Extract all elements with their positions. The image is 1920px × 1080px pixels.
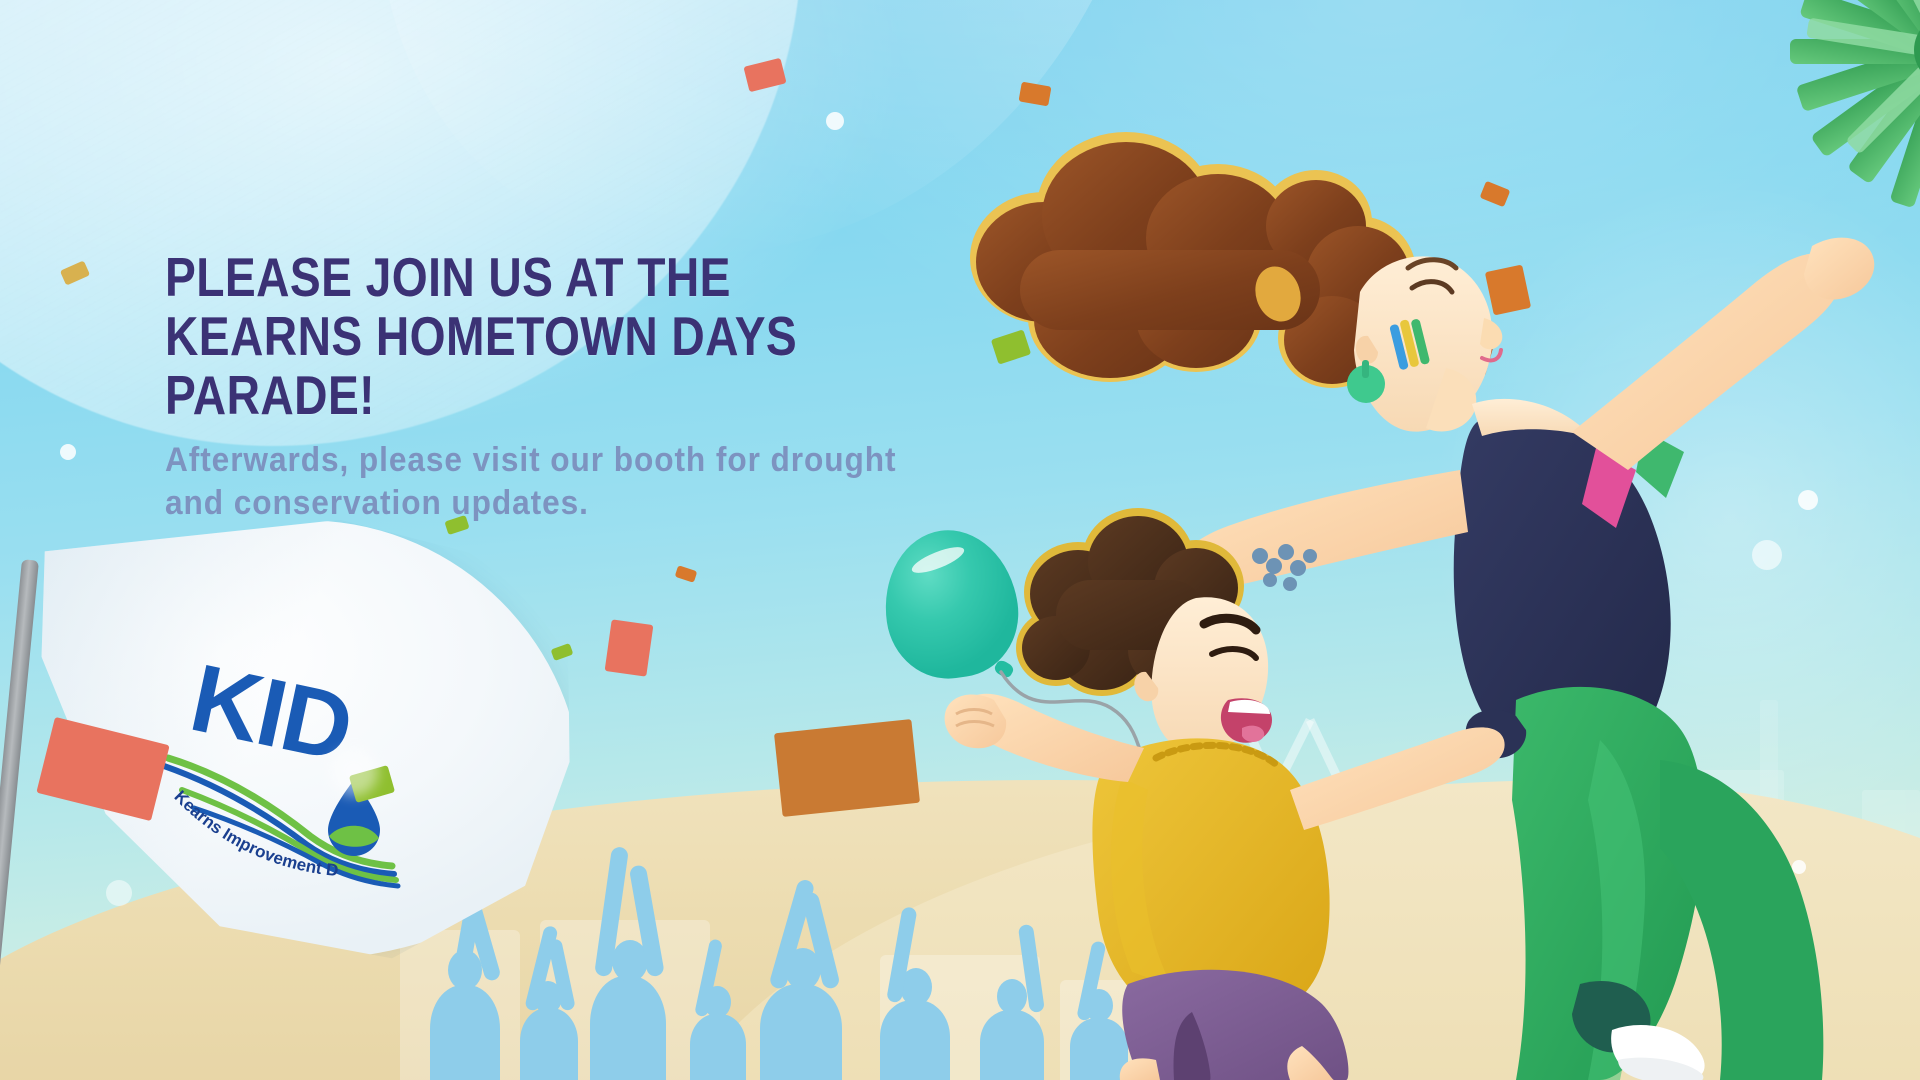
boy — [945, 508, 1505, 1080]
bokeh-dot — [826, 112, 844, 130]
page-subtitle: Afterwards, please visit our booth for d… — [165, 439, 1039, 526]
poster-copy: PLEASE JOIN US AT THE KEARNS HOMETOWN DA… — [165, 248, 1105, 526]
bokeh-dot — [106, 880, 132, 906]
woman-raised-arm — [1572, 238, 1874, 470]
page-title: PLEASE JOIN US AT THE KEARNS HOMETOWN DA… — [165, 248, 955, 425]
kid-logo: KID Kearns Improvement District — [160, 630, 410, 880]
confetti-piece — [605, 619, 654, 676]
boy-shoe — [1560, 964, 1760, 1080]
illustration-people — [960, 0, 1920, 1080]
boy-holding-arm — [1290, 727, 1505, 830]
bokeh-dot — [330, 748, 378, 796]
pom-pom — [1790, 0, 1920, 208]
poster-canvas: KID Kearns Improvement District — [0, 0, 1920, 1080]
boy-balloon-arm — [945, 694, 1144, 782]
bokeh-dot — [60, 444, 76, 460]
confetti-piece — [774, 719, 920, 817]
